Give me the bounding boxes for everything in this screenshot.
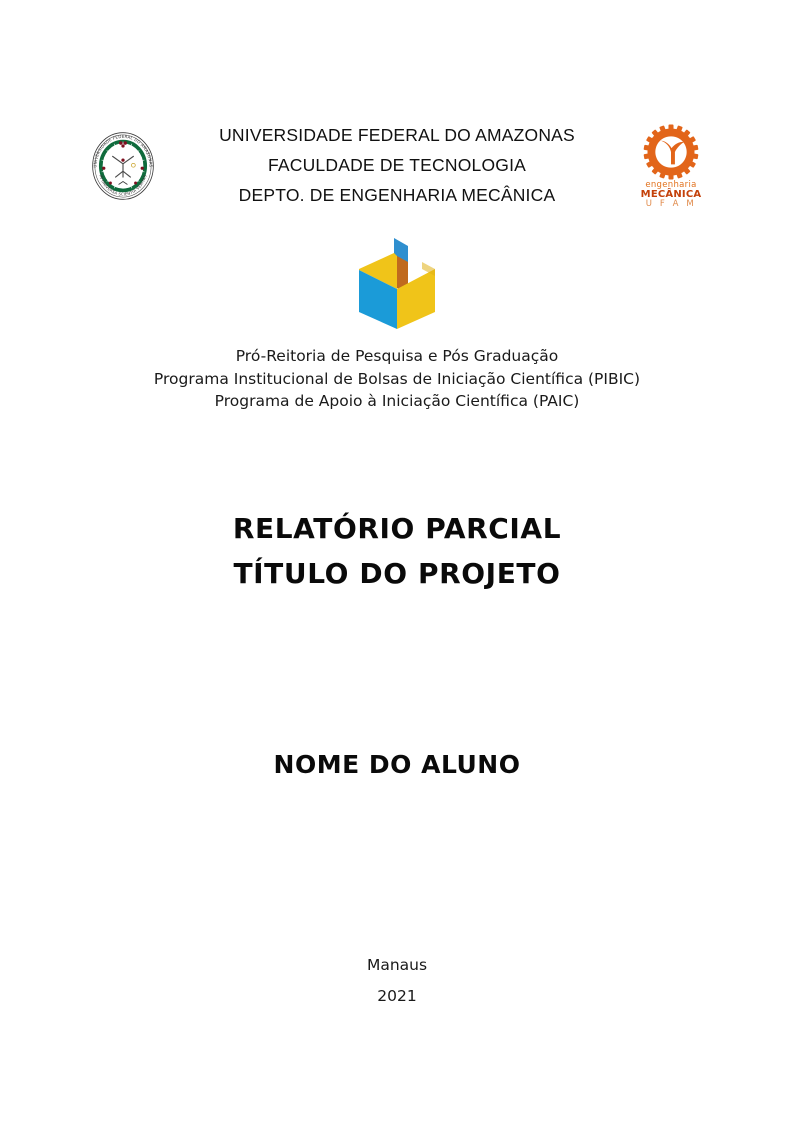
gear-icon	[643, 124, 699, 180]
program-line-paic: Programa de Apoio à Iniciação Científica…	[0, 390, 794, 413]
eng-mecanica-logo: engenharia MECÂNICA U F A M	[641, 124, 702, 209]
ufam-seal-slot: UNIVERSIDADE FEDERAL DO AMAZONAS IN UNIV…	[69, 118, 177, 207]
program-lines: Pró-Reitoria de Pesquisa e Pós Graduação…	[0, 345, 794, 413]
footer-block: Manaus 2021	[0, 950, 794, 1012]
title-project-name: TÍTULO DO PROJETO	[0, 551, 794, 596]
program-line-propesp: Pró-Reitoria de Pesquisa e Pós Graduação	[0, 345, 794, 368]
footer-year: 2021	[0, 981, 794, 1012]
footer-city: Manaus	[0, 950, 794, 981]
propesp-logo-wrap	[0, 236, 794, 332]
document-title: RELATÓRIO PARCIAL TÍTULO DO PROJETO	[0, 506, 794, 596]
header-line-university: UNIVERSIDADE FEDERAL DO AMAZONAS	[177, 120, 617, 150]
ufam-seal-icon: UNIVERSIDADE FEDERAL DO AMAZONAS IN UNIV…	[86, 125, 160, 207]
header-line-department: DEPTO. DE ENGENHARIA MECÂNICA	[177, 180, 617, 210]
program-line-pibic: Programa Institucional de Bolsas de Inic…	[0, 368, 794, 391]
header-line-faculty: FACULDADE DE TECNOLOGIA	[177, 150, 617, 180]
institution-header: UNIVERSIDADE FEDERAL DO AMAZONAS FACULDA…	[177, 118, 617, 210]
eng-mecanica-logo-slot: engenharia MECÂNICA U F A M	[617, 118, 725, 209]
cover-page: UNIVERSIDADE FEDERAL DO AMAZONAS IN UNIV…	[0, 0, 794, 1123]
eng-word-ufam: U F A M	[641, 200, 702, 209]
title-report-type: RELATÓRIO PARCIAL	[0, 506, 794, 551]
eng-wordmark: engenharia MECÂNICA U F A M	[641, 181, 702, 209]
propesp-book-icon	[356, 236, 438, 332]
author-name: NOME DO ALUNO	[0, 750, 794, 779]
header-band: UNIVERSIDADE FEDERAL DO AMAZONAS IN UNIV…	[0, 118, 794, 222]
